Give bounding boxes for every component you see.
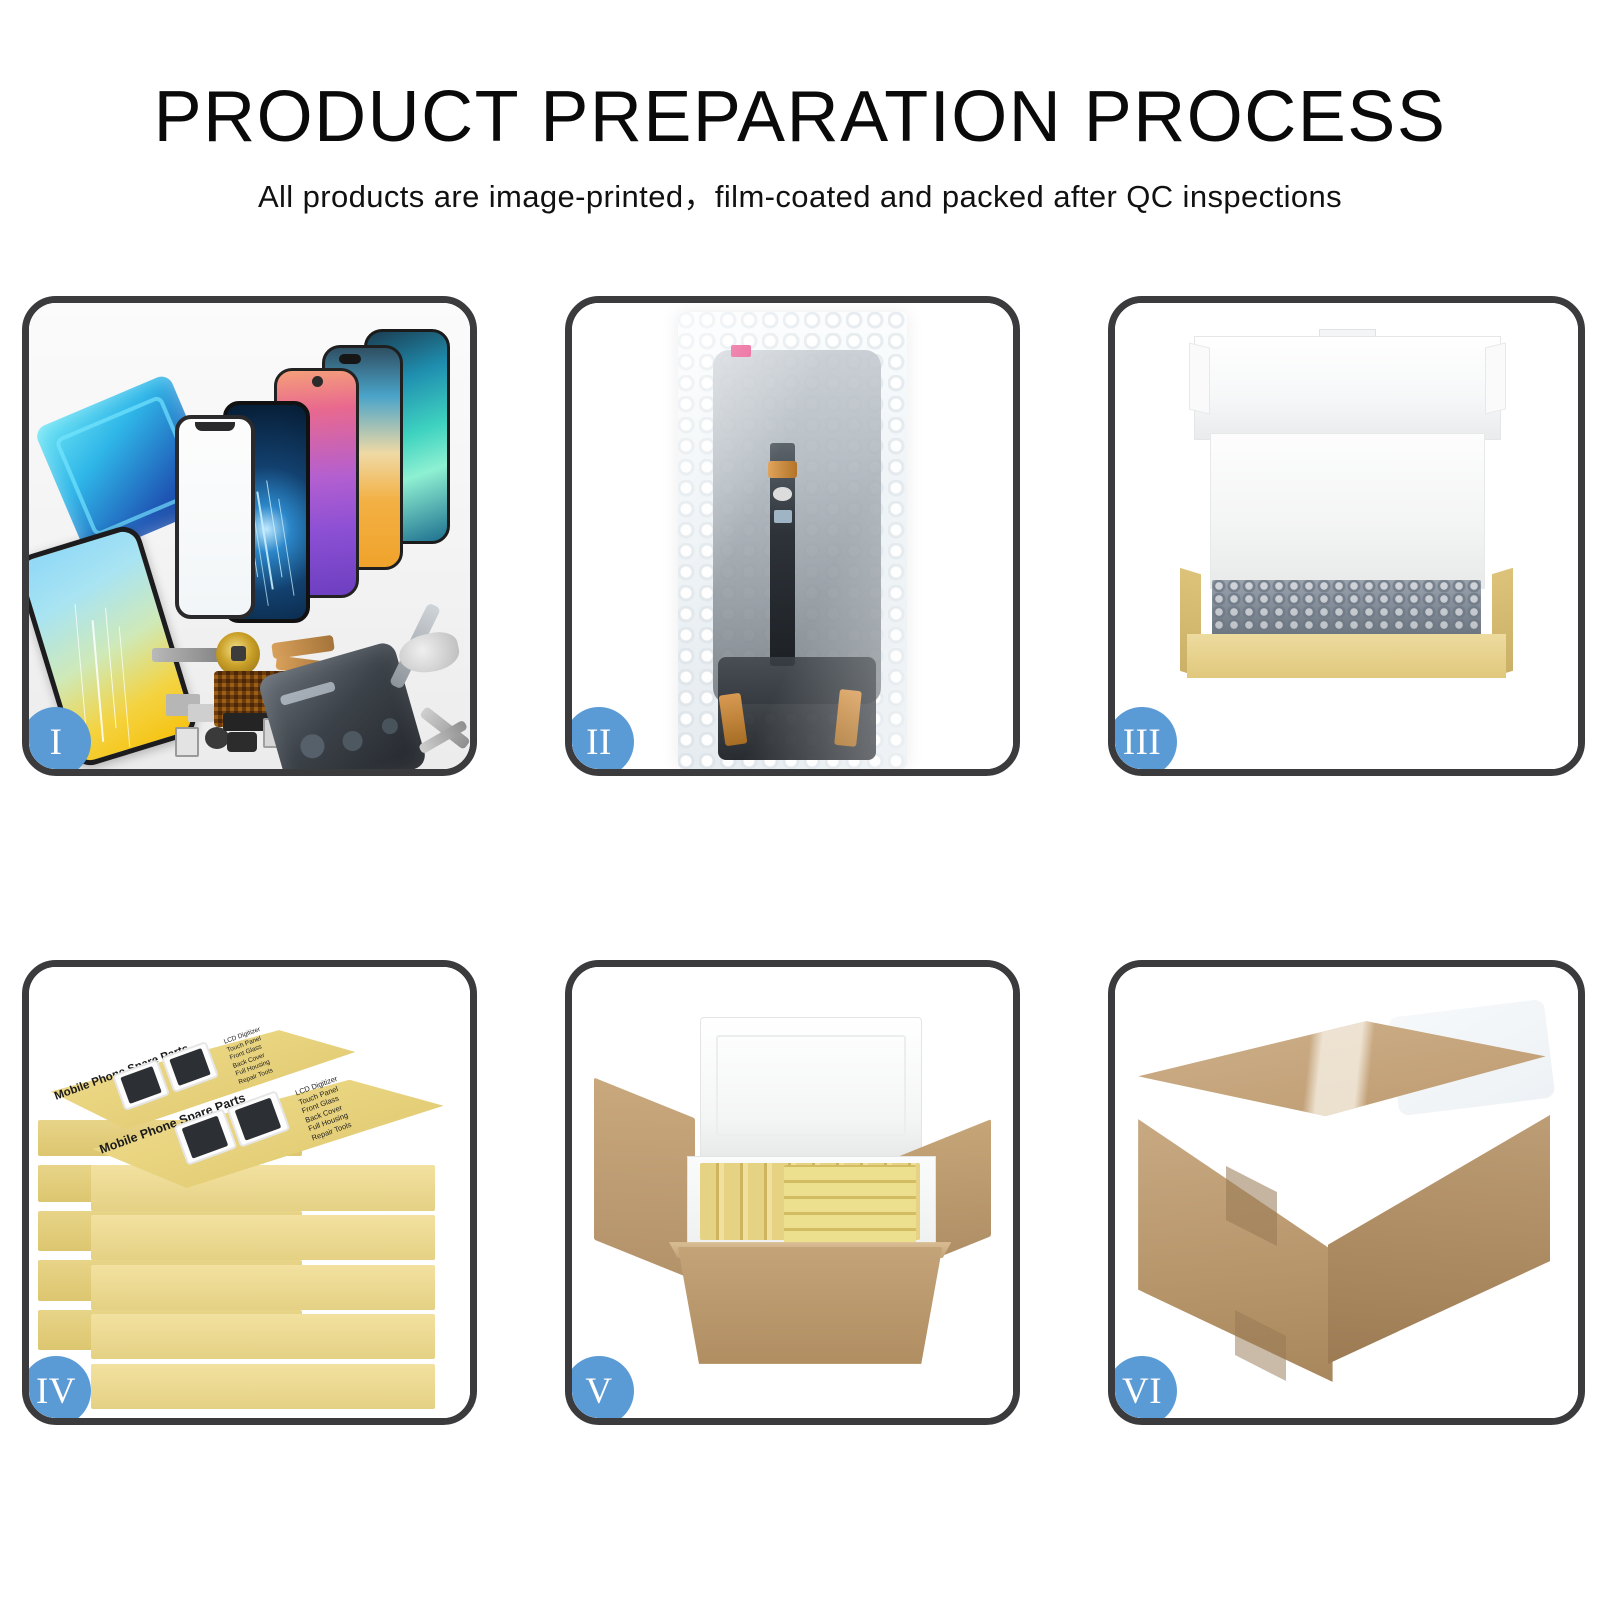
process-panel-5[interactable]: V: [565, 960, 1020, 1425]
wireless-charging-coil: [216, 632, 260, 676]
white-foam-sheet: [1210, 433, 1485, 589]
grey-bubble-wrap-layer: [1212, 580, 1481, 636]
box-lid-flap-left: [1189, 342, 1210, 414]
step-badge-1: I: [22, 707, 91, 776]
product-preparation-infographic: PRODUCT PREPARATION PROCESS All products…: [0, 0, 1600, 1600]
process-panel-6[interactable]: VI: [1108, 960, 1585, 1425]
gold-boxes-row-right: [784, 1165, 916, 1244]
stack-box-front-5: [91, 1364, 435, 1409]
step-badge-2: II: [565, 707, 634, 776]
square-connector: [774, 510, 792, 523]
step-badge-5: V: [565, 1356, 634, 1425]
panel-3-photo: [1115, 303, 1578, 769]
panel-4-photo: Mobile Phone Spare Parts LCD Digitizer T…: [29, 967, 470, 1418]
gold-connector: [768, 461, 797, 477]
box-lid-flap-right: [1485, 342, 1506, 414]
camera-module-part: [227, 732, 257, 752]
small-part-2: [188, 704, 214, 722]
foam-box-lid: [700, 1017, 923, 1163]
carton-body: [678, 1247, 943, 1364]
tempered-glass-protector: [175, 415, 256, 619]
sim-tray-part: [175, 727, 199, 757]
stack-box-front-2: [91, 1215, 435, 1260]
stack-box-front-1: [91, 1165, 435, 1210]
process-panel-4[interactable]: Mobile Phone Spare Parts LCD Digitizer T…: [22, 960, 477, 1425]
stack-box-front-4: [91, 1314, 435, 1359]
stack-box-front-3: [91, 1265, 435, 1310]
step-badge-6: VI: [1108, 1356, 1177, 1425]
kraft-tray-front-wall: [1187, 634, 1506, 678]
step-badge-3: III: [1108, 707, 1177, 776]
lcd-screen-inside-bag: [713, 350, 881, 704]
panel-5-photo: [572, 967, 1013, 1418]
panel-6-photo: [1115, 967, 1578, 1418]
pink-label-sticker: [731, 345, 751, 357]
panel-1-photo: [29, 303, 470, 769]
white-box-lid: [1194, 336, 1502, 441]
process-panel-1[interactable]: I: [22, 296, 477, 776]
process-panel-grid: I II: [0, 0, 1600, 1600]
step-badge-4: IV: [22, 1356, 91, 1425]
process-panel-2[interactable]: II: [565, 296, 1020, 776]
panel-2-photo: [572, 303, 1013, 769]
process-panel-3[interactable]: III: [1108, 296, 1585, 776]
